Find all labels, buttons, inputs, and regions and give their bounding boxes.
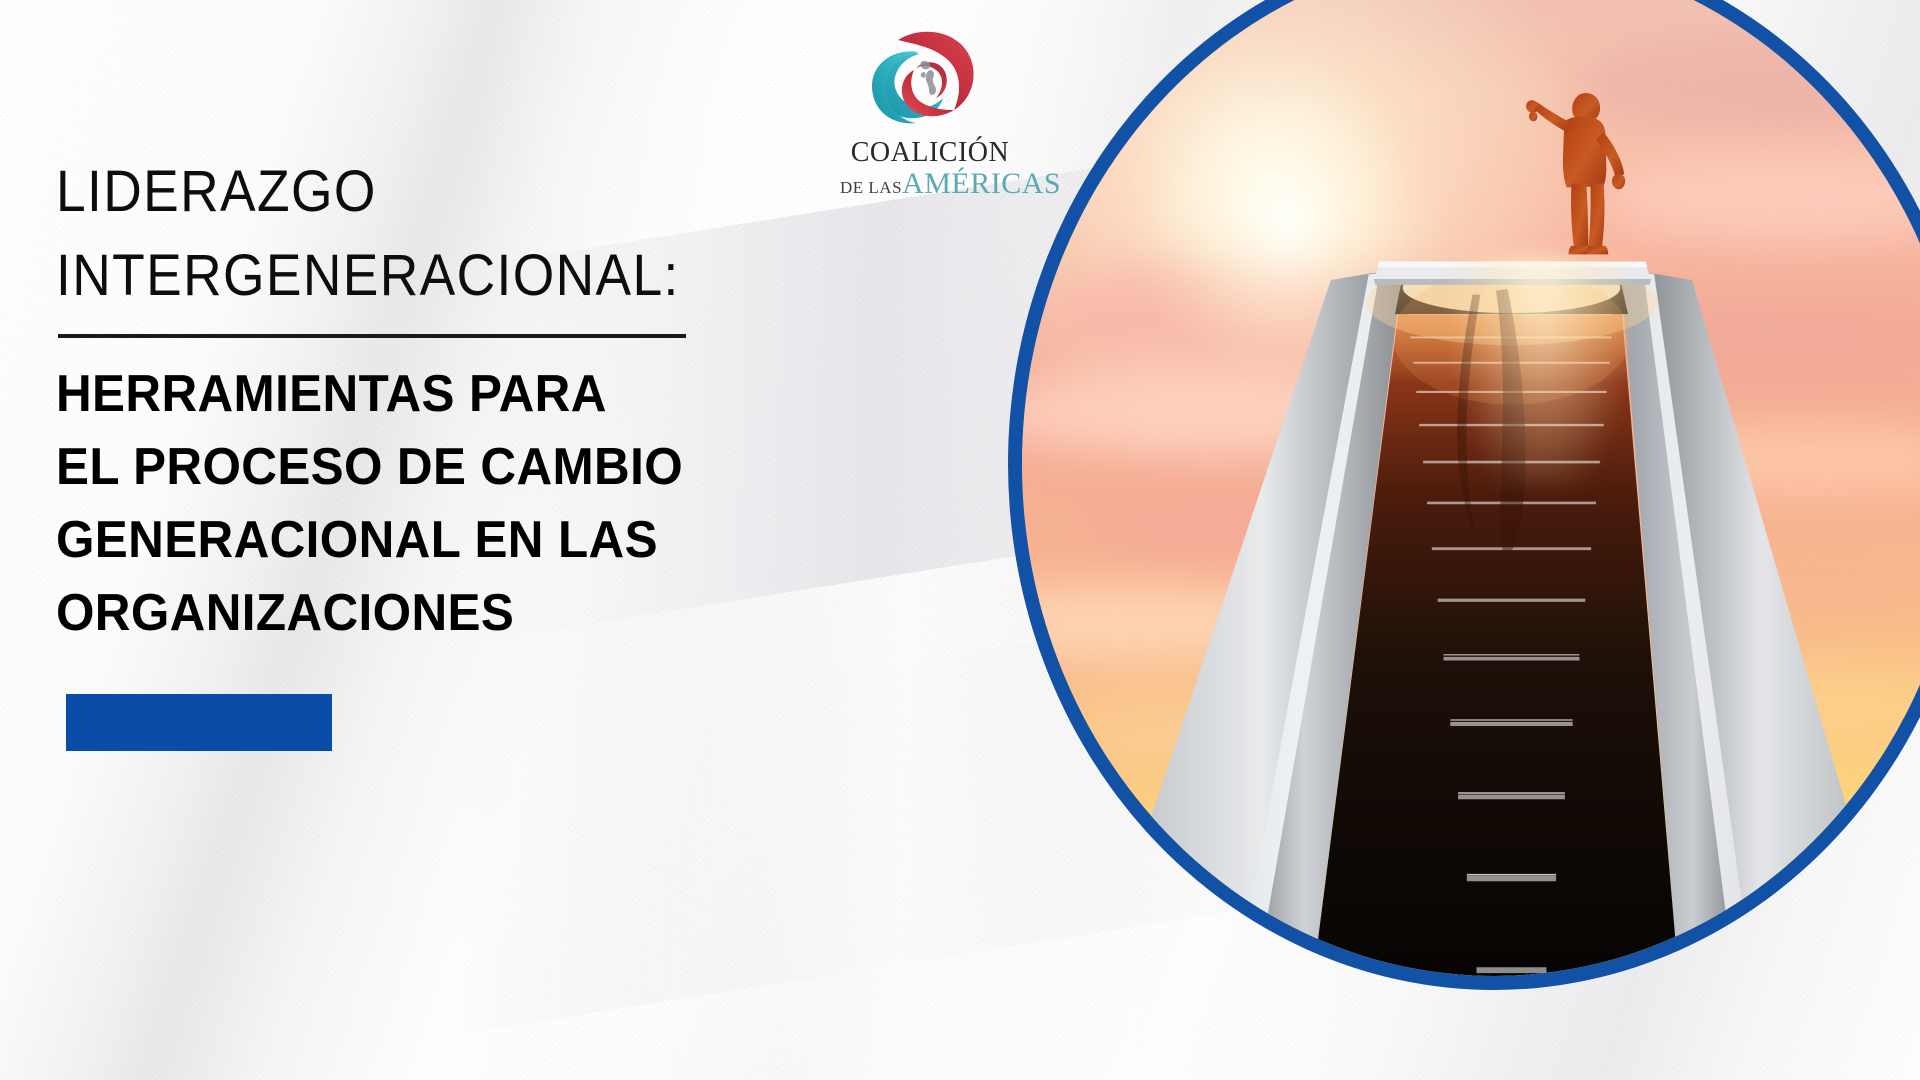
subtitle-line-4: ORGANIZACIONES — [56, 577, 740, 650]
accent-bar — [66, 694, 332, 751]
subtitle-line-2: EL PROCESO DE CAMBIO — [56, 431, 740, 504]
escalator — [1022, 0, 1920, 976]
photo-inner — [1022, 0, 1920, 976]
slide-canvas: LIDERAZGO INTERGENERACIONAL: HERRAMIENTA… — [0, 0, 1920, 1080]
escalator-sunset-silhouette-photo — [1008, 0, 1920, 990]
coalicion-de-las-americas-logo: COALICIÓN DE LASAMÉRICAS — [840, 22, 1020, 212]
subtitle-line-3: GENERACIONAL EN LAS — [56, 504, 740, 577]
logo-de-las: DE LAS — [840, 178, 902, 197]
page-title-line-2: INTERGENERACIONAL: — [56, 234, 718, 318]
person-silhouette-icon — [1488, 70, 1677, 295]
title-block: LIDERAZGO INTERGENERACIONAL: HERRAMIENTA… — [56, 150, 776, 751]
logo-text: COALICIÓN DE LASAMÉRICAS — [840, 138, 1020, 205]
logo-line-americas: DE LASAMÉRICAS — [840, 168, 1020, 205]
title-divider — [58, 334, 686, 338]
logo-mark-icon — [858, 22, 988, 140]
subtitle-line-1: HERRAMIENTAS PARA — [56, 358, 740, 431]
page-title-line-1: LIDERAZGO — [56, 150, 718, 234]
logo-line-coalicion: COALICIÓN — [840, 138, 1020, 168]
